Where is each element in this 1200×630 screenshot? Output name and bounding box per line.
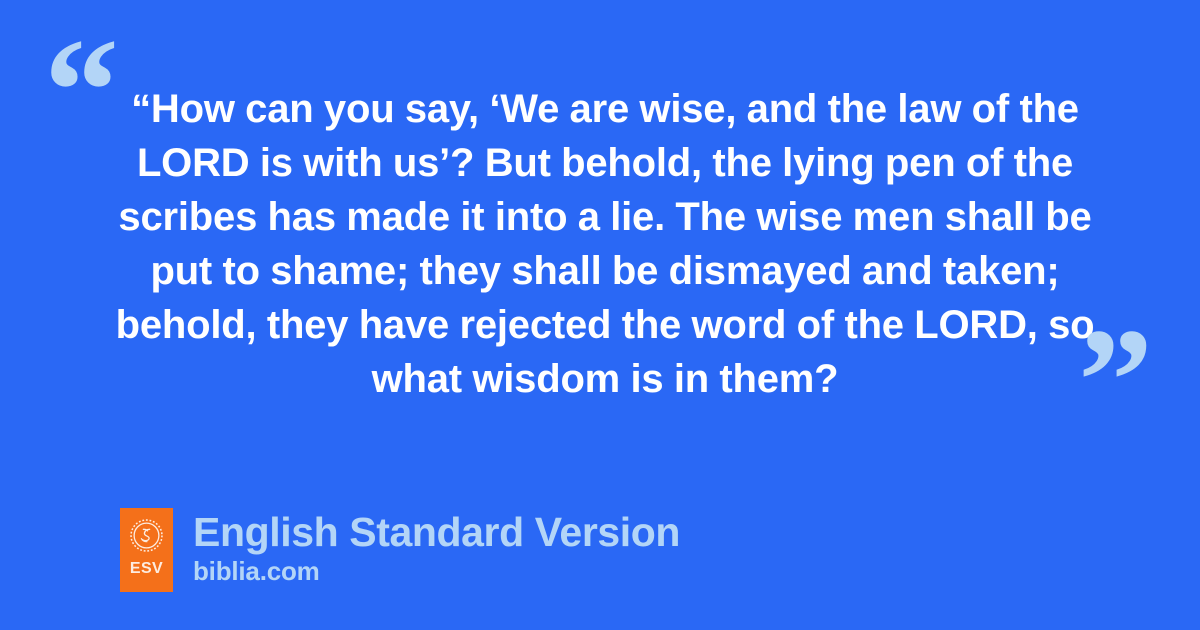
bible-version-name: English Standard Version <box>193 509 680 555</box>
bible-verse-card: “ “How can you say, ‘We are wise, and th… <box>0 0 1200 630</box>
esv-logo-label: ESV <box>130 561 163 577</box>
site-url-label: biblia.com <box>193 556 680 586</box>
attribution-block: ESV English Standard Version biblia.com <box>120 508 680 592</box>
open-quote-icon: “ <box>44 16 117 166</box>
verse-quote-text: “How can you say, ‘We are wise, and the … <box>110 82 1100 406</box>
attribution-text-group: English Standard Version biblia.com <box>193 509 680 586</box>
close-quote-icon: ” <box>1078 306 1151 456</box>
esv-logo: ESV <box>120 508 173 592</box>
esv-circular-seal-icon <box>130 519 163 552</box>
